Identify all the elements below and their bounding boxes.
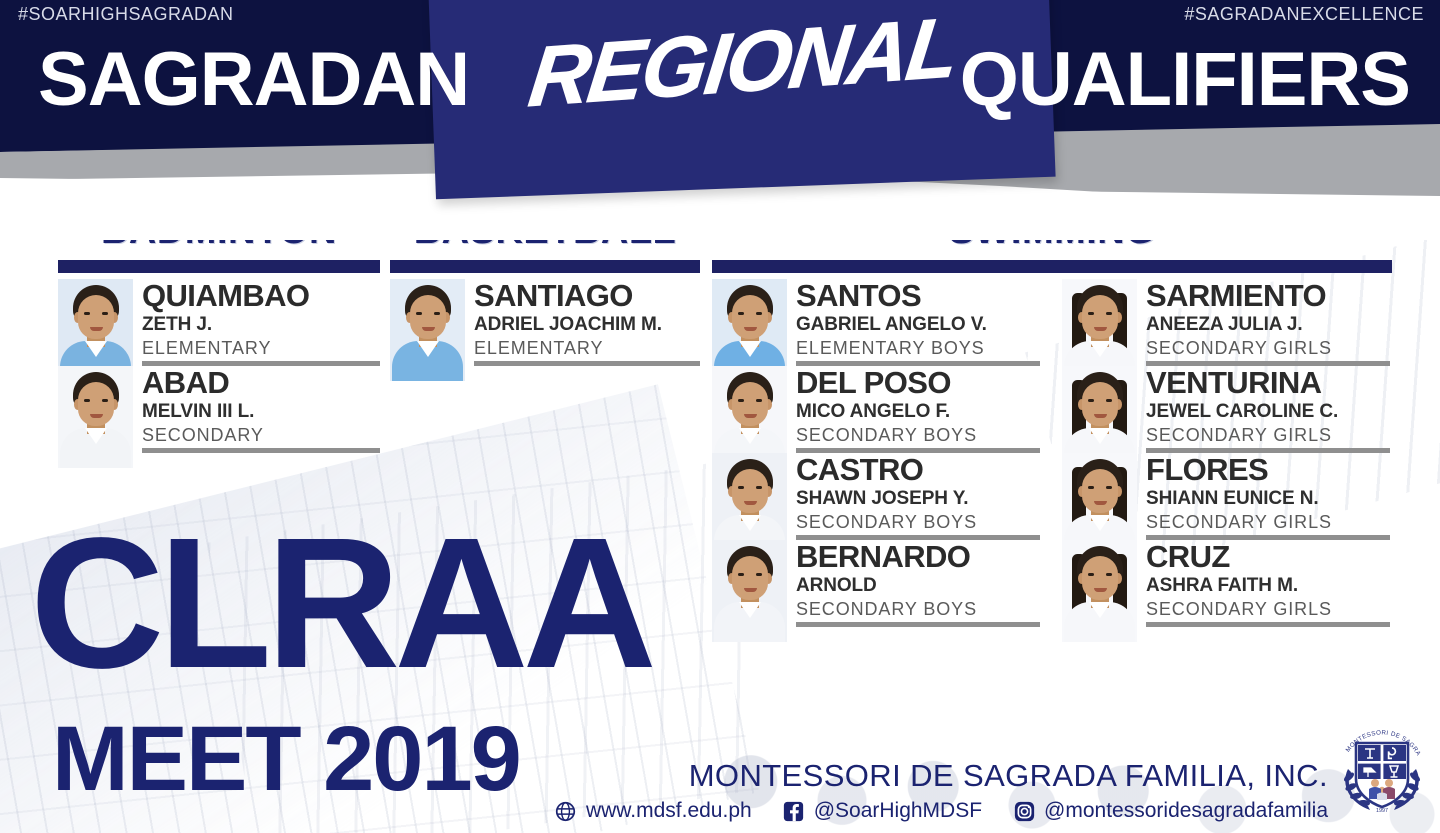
eye-right xyxy=(102,312,108,315)
athlete-info: VENTURINAJEWEL CAROLINE C.SECONDARY GIRL… xyxy=(1146,366,1390,446)
sport-title-rule xyxy=(58,260,380,273)
face xyxy=(1082,469,1118,513)
athlete-info: SARMIENTOANEEZA JULIA J.SECONDARY GIRLS xyxy=(1146,279,1390,359)
eye-left xyxy=(84,399,90,402)
eye-right xyxy=(1106,399,1112,402)
eye-left xyxy=(84,312,90,315)
athlete-entry: VENTURINAJEWEL CAROLINE C.SECONDARY GIRL… xyxy=(1062,366,1390,453)
athlete-info: SANTOSGABRIEL ANGELO V.ELEMENTARY BOYS xyxy=(796,279,1040,359)
sport-column-badminton: BADMINTONQUIAMBAOZETH J.ELEMENTARYABADME… xyxy=(58,212,380,453)
mouth xyxy=(1094,414,1107,418)
face xyxy=(732,469,768,513)
face xyxy=(1082,556,1118,600)
poster-root: #SOARHIGHSAGRADAN #SAGRADANEXCELLENCE SA… xyxy=(0,0,1440,833)
athlete-surname: QUIAMBAO xyxy=(142,280,380,311)
athlete-entry: DEL POSOMICO ANGELO F.SECONDARY BOYS xyxy=(712,366,1040,453)
mouth xyxy=(90,414,103,418)
athlete-surname: CRUZ xyxy=(1146,541,1390,572)
sport-column-swimming: SWIMMINGSANTOSGABRIEL ANGELO V.ELEMENTAR… xyxy=(712,212,1392,627)
eye-right xyxy=(756,486,762,489)
athlete-surname: BERNARDO xyxy=(796,541,1040,572)
mouth xyxy=(1094,327,1107,331)
athlete-entry: SARMIENTOANEEZA JULIA J.SECONDARY GIRLS xyxy=(1062,279,1390,366)
athlete-entry: BERNARDOARNOLDSECONDARY BOYS xyxy=(712,540,1040,627)
athlete-surname: ABAD xyxy=(142,367,380,398)
social-links-row: www.mdsf.edu.ph @SoarHighMDSF @montessor… xyxy=(555,799,1328,823)
eye-left xyxy=(1088,399,1094,402)
athlete-given-name: SHIANN EUNICE N. xyxy=(1146,487,1390,511)
wordmark-clraa: CLRAA xyxy=(30,528,651,681)
instagram-handle[interactable]: @montessoridesagradafamilia xyxy=(1044,799,1328,823)
athlete-level: SECONDARY BOYS xyxy=(796,424,1040,447)
athlete-surname: SANTIAGO xyxy=(474,280,700,311)
athlete-level: SECONDARY GIRLS xyxy=(1146,511,1390,534)
eye-right xyxy=(756,312,762,315)
eye-right xyxy=(102,399,108,402)
athlete-entry: SANTIAGOADRIEL JOACHIM M.ELEMENTARY xyxy=(390,279,700,366)
athlete-level: SECONDARY xyxy=(142,424,380,447)
athlete-surname: CASTRO xyxy=(796,454,1040,485)
eye-left xyxy=(1088,486,1094,489)
eye-right xyxy=(756,399,762,402)
athlete-info: ABADMELVIN III L.SECONDARY xyxy=(142,366,380,446)
mouth xyxy=(744,414,757,418)
poster-header: #SOARHIGHSAGRADAN #SAGRADANEXCELLENCE SA… xyxy=(0,0,1440,160)
athlete-surname: DEL POSO xyxy=(796,367,1040,398)
eye-left xyxy=(738,486,744,489)
face xyxy=(1082,382,1118,426)
athlete-surname: SANTOS xyxy=(796,280,1040,311)
eye-left xyxy=(416,312,422,315)
athlete-level: SECONDARY BOYS xyxy=(796,511,1040,534)
athlete-surname: FLORES xyxy=(1146,454,1390,485)
eye-right xyxy=(1106,312,1112,315)
mouth xyxy=(422,327,435,331)
hashtag-right: #SAGRADANEXCELLENCE xyxy=(1184,4,1424,25)
eye-left xyxy=(738,312,744,315)
face xyxy=(732,295,768,339)
athlete-level: SECONDARY GIRLS xyxy=(1146,598,1390,621)
athlete-divider xyxy=(1146,622,1390,627)
athlete-info: QUIAMBAOZETH J.ELEMENTARY xyxy=(142,279,380,359)
athlete-level: ELEMENTARY xyxy=(142,337,380,360)
athlete-divider xyxy=(796,622,1040,627)
mouth xyxy=(90,327,103,331)
athlete-divider xyxy=(142,448,380,453)
athlete-info: FLORESSHIANN EUNICE N.SECONDARY GIRLS xyxy=(1146,453,1390,533)
athlete-grid: QUIAMBAOZETH J.ELEMENTARYABADMELVIN III … xyxy=(58,279,380,453)
athlete-entry: CRUZASHRA FAITH M.SECONDARY GIRLS xyxy=(1062,540,1390,627)
face xyxy=(732,382,768,426)
eye-right xyxy=(756,573,762,576)
athlete-level: ELEMENTARY BOYS xyxy=(796,337,1040,360)
wordmark-meet-year: MEET 2019 xyxy=(52,718,520,801)
athlete-photo xyxy=(1062,540,1137,642)
athlete-info: CASTROSHAWN JOSEPH Y.SECONDARY BOYS xyxy=(796,453,1040,533)
mouth xyxy=(744,588,757,592)
face xyxy=(410,295,446,339)
website-text[interactable]: www.mdsf.edu.ph xyxy=(586,799,752,823)
athlete-given-name: MICO ANGELO F. xyxy=(796,400,1040,424)
athlete-surname: VENTURINA xyxy=(1146,367,1390,398)
instagram-icon xyxy=(1013,800,1035,822)
athlete-divider xyxy=(474,361,700,366)
athlete-entry: FLORESSHIANN EUNICE N.SECONDARY GIRLS xyxy=(1062,453,1390,540)
athlete-level: SECONDARY GIRLS xyxy=(1146,424,1390,447)
athlete-surname: SARMIENTO xyxy=(1146,280,1390,311)
mouth xyxy=(1094,501,1107,505)
poster-footer: MONTESSORI DE SAGRADA FAMILIA, INC. www.… xyxy=(555,759,1328,823)
athlete-level: ELEMENTARY xyxy=(474,337,700,360)
athlete-photo xyxy=(390,279,465,381)
athlete-info: BERNARDOARNOLDSECONDARY BOYS xyxy=(796,540,1040,620)
eye-left xyxy=(1088,573,1094,576)
facebook-icon xyxy=(783,800,805,822)
eye-right xyxy=(434,312,440,315)
eye-right xyxy=(1106,573,1112,576)
crest-year: 1997 xyxy=(1376,808,1388,814)
sport-title-rule xyxy=(390,260,700,273)
athlete-given-name: ARNOLD xyxy=(796,574,1040,598)
face xyxy=(78,382,114,426)
face xyxy=(78,295,114,339)
face xyxy=(1082,295,1118,339)
athlete-level: SECONDARY GIRLS xyxy=(1146,337,1390,360)
eye-left xyxy=(1088,312,1094,315)
facebook-handle[interactable]: @SoarHighMDSF xyxy=(814,799,982,823)
eye-right xyxy=(1106,486,1112,489)
athlete-given-name: ASHRA FAITH M. xyxy=(1146,574,1390,598)
title-word-sagradan: SAGRADAN xyxy=(38,42,469,118)
athlete-grid: SANTIAGOADRIEL JOACHIM M.ELEMENTARY xyxy=(390,279,700,366)
athlete-entry: SANTOSGABRIEL ANGELO V.ELEMENTARY BOYS xyxy=(712,279,1040,366)
athlete-given-name: ADRIEL JOACHIM M. xyxy=(474,313,700,337)
athlete-photo xyxy=(58,366,133,468)
athlete-info: DEL POSOMICO ANGELO F.SECONDARY BOYS xyxy=(796,366,1040,446)
athlete-info: CRUZASHRA FAITH M.SECONDARY GIRLS xyxy=(1146,540,1390,620)
athlete-given-name: SHAWN JOSEPH Y. xyxy=(796,487,1040,511)
school-name: MONTESSORI DE SAGRADA FAMILIA, INC. xyxy=(555,759,1328,793)
athlete-info: SANTIAGOADRIEL JOACHIM M.ELEMENTARY xyxy=(474,279,700,359)
mouth xyxy=(1094,588,1107,592)
athlete-entry: QUIAMBAOZETH J.ELEMENTARY xyxy=(58,279,380,366)
face xyxy=(732,556,768,600)
mouth xyxy=(744,327,757,331)
athlete-given-name: JEWEL CAROLINE C. xyxy=(1146,400,1390,424)
eye-left xyxy=(738,399,744,402)
athlete-given-name: MELVIN III L. xyxy=(142,400,380,424)
athlete-level: SECONDARY BOYS xyxy=(796,598,1040,621)
athlete-given-name: ANEEZA JULIA J. xyxy=(1146,313,1390,337)
athlete-grid: SANTOSGABRIEL ANGELO V.ELEMENTARY BOYSSA… xyxy=(712,279,1392,627)
athlete-given-name: GABRIEL ANGELO V. xyxy=(796,313,1040,337)
hashtag-left: #SOARHIGHSAGRADAN xyxy=(18,4,234,25)
sport-title-rule xyxy=(712,260,1392,273)
athlete-entry: CASTROSHAWN JOSEPH Y.SECONDARY BOYS xyxy=(712,453,1040,540)
eye-left xyxy=(738,573,744,576)
athlete-given-name: ZETH J. xyxy=(142,313,380,337)
athlete-entry: ABADMELVIN III L.SECONDARY xyxy=(58,366,380,453)
globe-icon xyxy=(555,800,577,822)
school-crest-logo: MONTESSORI DE SAGRADA FAMILIA xyxy=(1330,717,1434,821)
athlete-photo xyxy=(712,540,787,642)
mouth xyxy=(744,501,757,505)
